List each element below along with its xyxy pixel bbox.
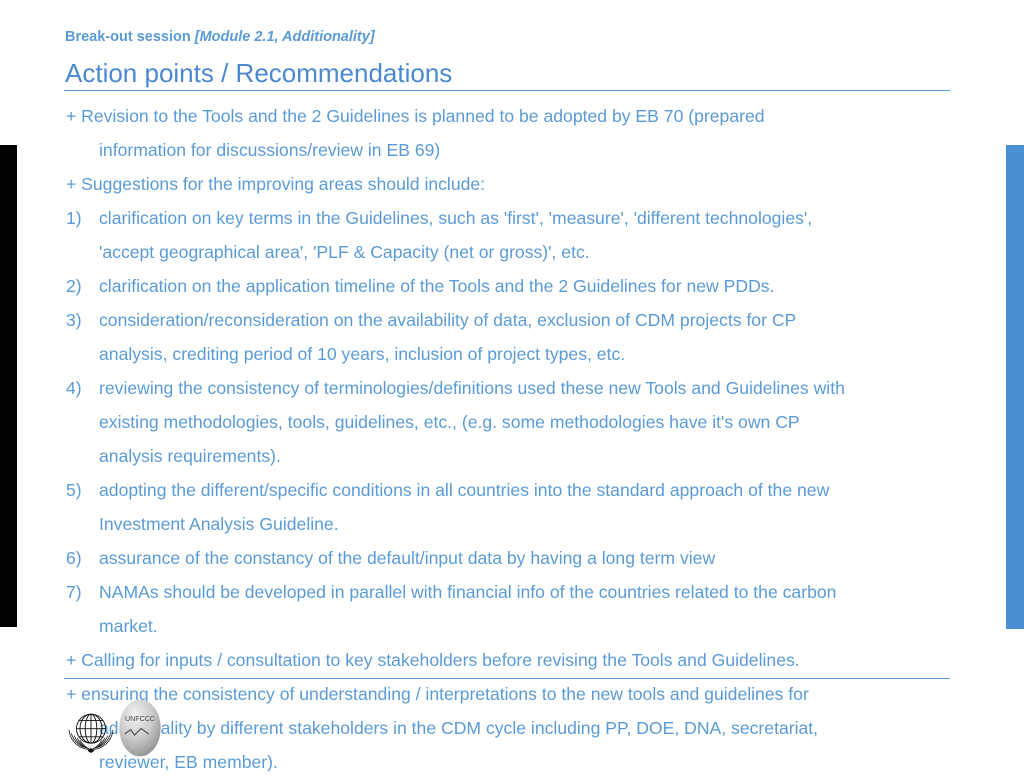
plus-bullet-wrapped-line: information for discussions/review in EB…	[0, 133, 1000, 167]
kicker-italic-text: [Module 2.1, Additionality]	[195, 29, 375, 45]
list-item-marker: 5)	[66, 473, 99, 507]
list-item-text: consideration/reconsideration on the ava…	[99, 303, 796, 337]
right-accent-bar	[1006, 145, 1024, 629]
plus-bullet-item: + Suggestions for the improving areas sh…	[0, 167, 1000, 201]
unfccc-sphere-icon: UNFCCC	[112, 698, 168, 758]
footer-rule	[64, 678, 950, 679]
slide-kicker: Break-out session [Module 2.1, Additiona…	[65, 29, 375, 45]
list-item-wrapped-line: market.	[0, 609, 1000, 643]
list-item-marker: 3)	[66, 303, 99, 337]
list-item-text: assurance of the constancy of the defaul…	[99, 541, 715, 575]
list-item-wrapped-line: 'accept geographical area', 'PLF & Capac…	[0, 235, 1000, 269]
numbered-list-item: 6)assurance of the constancy of the defa…	[0, 541, 1000, 575]
numbered-list-item: 1)clarification on key terms in the Guid…	[0, 201, 1000, 235]
numbered-list-item: 7)NAMAs should be developed in parallel …	[0, 575, 1000, 609]
list-item-marker: 4)	[66, 371, 99, 405]
list-item-marker: 6)	[66, 541, 99, 575]
list-item-text: adopting the different/specific conditio…	[99, 473, 829, 507]
list-item-text: clarification on the application timelin…	[99, 269, 774, 303]
list-item-wrapped-line: existing methodologies, tools, guideline…	[0, 405, 1000, 439]
slide-body: + Revision to the Tools and the 2 Guidel…	[0, 99, 1000, 779]
title-underline-rule	[64, 90, 950, 91]
numbered-list-item: 3)consideration/reconsideration on the a…	[0, 303, 1000, 337]
plus-bullet-item: + Calling for inputs / consultation to k…	[0, 643, 1000, 677]
footer-logo-cluster: UNFCCC	[62, 698, 207, 764]
list-item-wrapped-line: analysis requirements).	[0, 439, 1000, 473]
list-item-marker: 2)	[66, 269, 99, 303]
list-item-marker: 7)	[66, 575, 99, 609]
list-item-marker: 1)	[66, 201, 99, 235]
slide-canvas: Break-out session [Module 2.1, Additiona…	[0, 0, 1024, 768]
numbered-list-item: 5)adopting the different/specific condit…	[0, 473, 1000, 507]
numbered-list-item: 2)clarification on the application timel…	[0, 269, 1000, 303]
plus-bullet-item: + Revision to the Tools and the 2 Guidel…	[0, 99, 1000, 133]
unfccc-sphere-label: UNFCCC	[125, 715, 155, 723]
list-item-wrapped-line: Investment Analysis Guideline.	[0, 507, 1000, 541]
list-item-text: reviewing the consistency of terminologi…	[99, 371, 845, 405]
list-item-text: NAMAs should be developed in parallel wi…	[99, 575, 836, 609]
numbered-list-item: 4)reviewing the consistency of terminolo…	[0, 371, 1000, 405]
page-title: Action points / Recommendations	[65, 59, 452, 89]
list-item-text: clarification on key terms in the Guidel…	[99, 201, 812, 235]
list-item-wrapped-line: analysis, crediting period of 10 years, …	[0, 337, 1000, 371]
kicker-bold-text: Break-out session	[65, 29, 195, 45]
